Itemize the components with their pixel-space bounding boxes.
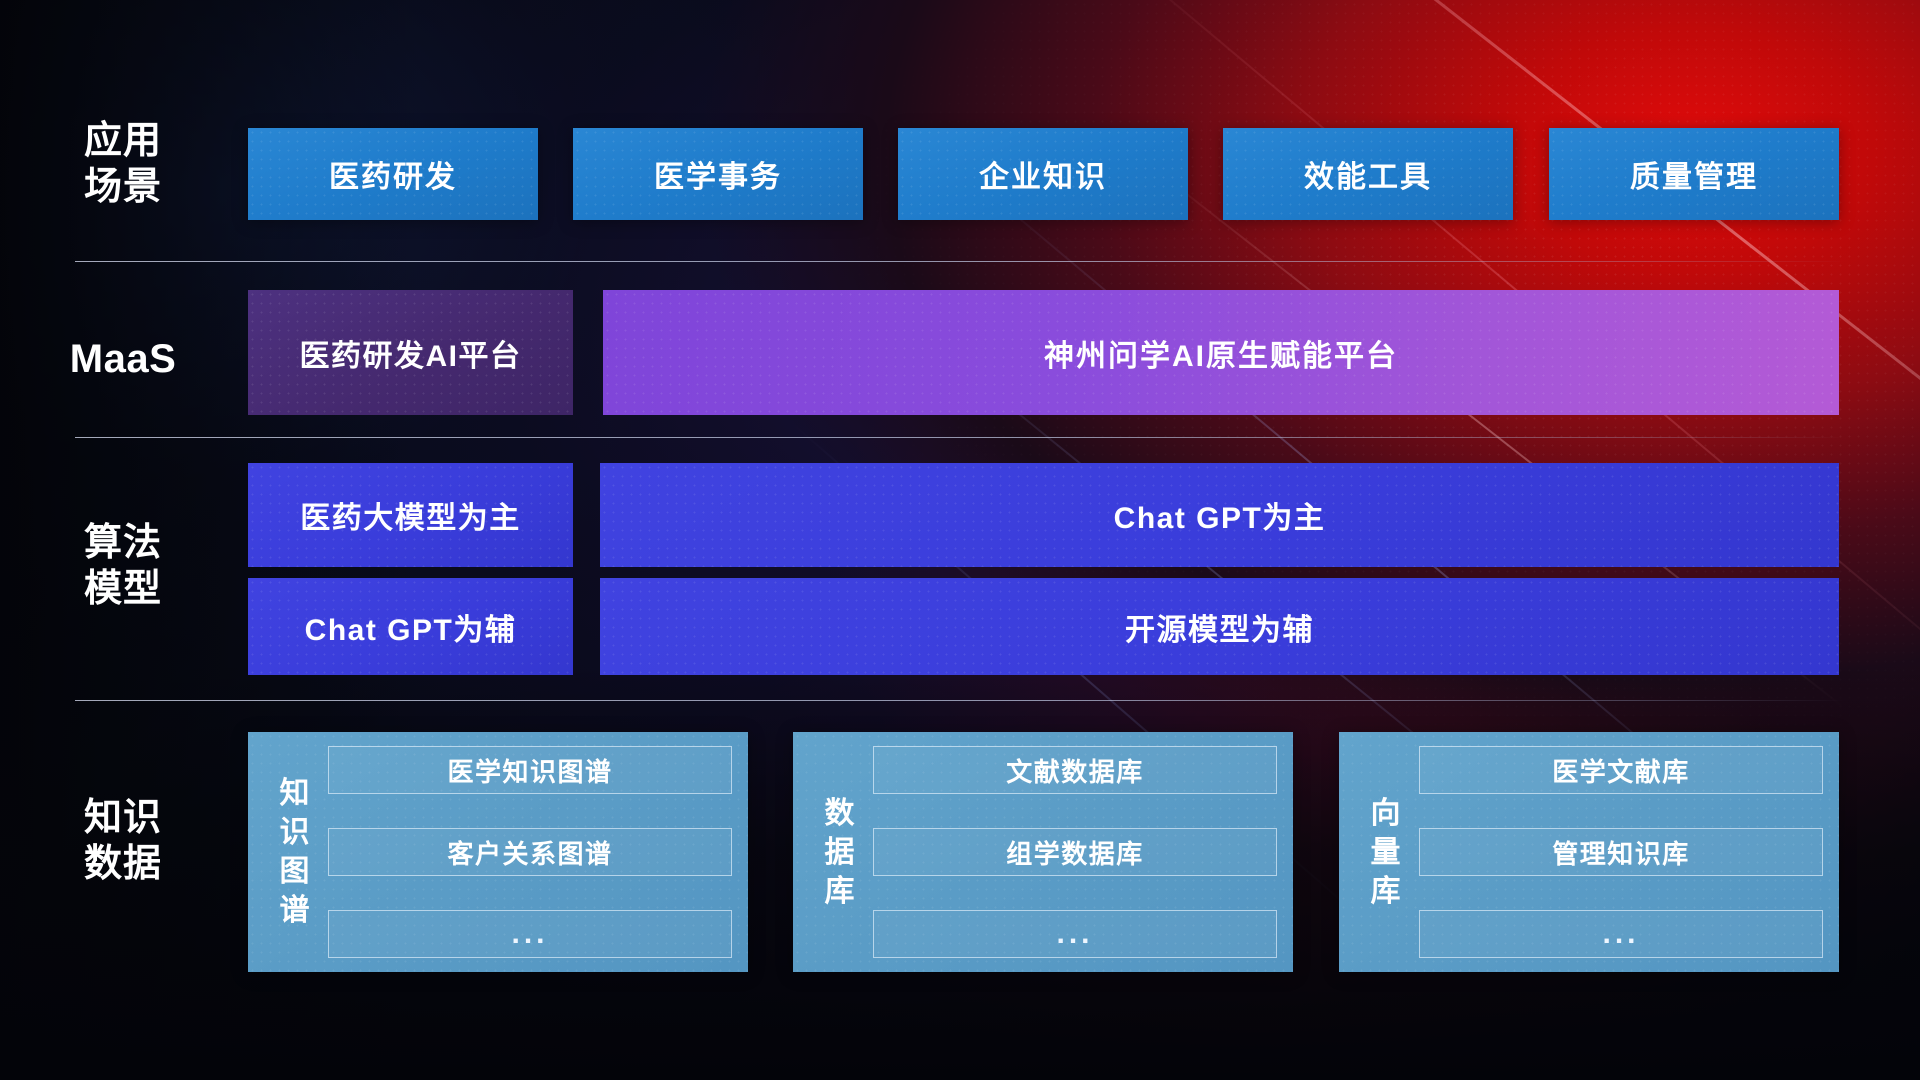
- row-label-line: 应用: [38, 118, 208, 164]
- app-scenario-box-label: 医药研发: [329, 152, 457, 196]
- knowledge-group-vertical-label-text: 向量库: [1371, 794, 1402, 911]
- knowledge-group-item-label: 管理知识库: [1552, 834, 1690, 871]
- knowledge-group-vertical-label-text: 知识图谱: [280, 774, 311, 930]
- knowledge-group-item-label: 医学文献库: [1552, 752, 1690, 789]
- knowledge-group-item-label: 组学数据库: [1006, 834, 1144, 871]
- knowledge-group-item[interactable]: 文献数据库: [873, 746, 1277, 794]
- row-divider-3: [75, 700, 1845, 701]
- knowledge-group-item-list: 医学文献库 管理知识库 ...: [1419, 746, 1823, 958]
- app-scenario-box-2[interactable]: 医学事务: [573, 128, 863, 220]
- knowledge-group-item-label: ...: [511, 917, 548, 951]
- knowledge-group-item-more[interactable]: ...: [873, 910, 1277, 958]
- algo-row2-right-box[interactable]: 开源模型为辅: [600, 578, 1839, 675]
- algo-box-label: Chat GPT为主: [1114, 493, 1326, 537]
- knowledge-group-database[interactable]: 数据库 文献数据库 组学数据库 ...: [793, 732, 1293, 972]
- knowledge-group-item-more[interactable]: ...: [1419, 910, 1823, 958]
- row-label-knowledge-data: 知识 数据: [38, 795, 208, 888]
- row-label-line: 算法: [38, 520, 208, 566]
- algo-row1-left-box[interactable]: 医药大模型为主: [248, 463, 573, 567]
- knowledge-group-item[interactable]: 客户关系图谱: [328, 828, 732, 876]
- row-label-line: MaaS: [38, 335, 208, 384]
- knowledge-group-vector-store[interactable]: 向量库 医学文献库 管理知识库 ...: [1339, 732, 1839, 972]
- app-scenario-box-3[interactable]: 企业知识: [898, 128, 1188, 220]
- row-label-line: 场景: [38, 164, 208, 210]
- knowledge-group-vertical-label: 向量库: [1353, 746, 1419, 958]
- knowledge-group-item[interactable]: 管理知识库: [1419, 828, 1823, 876]
- maas-platform-bar[interactable]: 神州问学AI原生赋能平台: [603, 290, 1839, 415]
- knowledge-group-item-list: 文献数据库 组学数据库 ...: [873, 746, 1277, 958]
- knowledge-group-item[interactable]: 组学数据库: [873, 828, 1277, 876]
- row-label-maas: MaaS: [38, 335, 208, 384]
- knowledge-group-item[interactable]: 医学文献库: [1419, 746, 1823, 794]
- knowledge-group-knowledge-graph[interactable]: 知识图谱 医学知识图谱 客户关系图谱 ...: [248, 732, 748, 972]
- knowledge-group-vertical-label: 数据库: [807, 746, 873, 958]
- maas-left-box-label: 医药研发AI平台: [300, 331, 522, 375]
- knowledge-group-item-label: ...: [1602, 917, 1639, 951]
- algo-row1-right-box[interactable]: Chat GPT为主: [600, 463, 1839, 567]
- maas-left-box[interactable]: 医药研发AI平台: [248, 290, 573, 415]
- maas-platform-bar-label: 神州问学AI原生赋能平台: [1044, 331, 1398, 375]
- row-divider-1: [75, 261, 1845, 262]
- knowledge-group-vertical-label-text: 数据库: [825, 794, 856, 911]
- knowledge-group-vertical-label: 知识图谱: [262, 746, 328, 958]
- row-label-algorithm-model: 算法 模型: [38, 520, 208, 613]
- row-label-line: 知识: [38, 795, 208, 841]
- app-scenario-box-5[interactable]: 质量管理: [1549, 128, 1839, 220]
- app-scenario-box-label: 质量管理: [1630, 152, 1758, 196]
- row-label-line: 数据: [38, 841, 208, 887]
- algo-box-label: Chat GPT为辅: [305, 605, 517, 649]
- knowledge-group-item-label: 医学知识图谱: [447, 752, 612, 789]
- app-scenario-box-4[interactable]: 效能工具: [1223, 128, 1513, 220]
- algo-box-label: 开源模型为辅: [1125, 605, 1314, 649]
- knowledge-group-item[interactable]: 医学知识图谱: [328, 746, 732, 794]
- algo-box-label: 医药大模型为主: [300, 493, 521, 537]
- app-scenario-box-label: 医学事务: [654, 152, 782, 196]
- row-label-application-scenario: 应用 场景: [38, 118, 208, 211]
- knowledge-group-item-more[interactable]: ...: [328, 910, 732, 958]
- knowledge-group-item-label: 文献数据库: [1006, 752, 1144, 789]
- knowledge-group-item-list: 医学知识图谱 客户关系图谱 ...: [328, 746, 732, 958]
- app-scenario-box-1[interactable]: 医药研发: [248, 128, 538, 220]
- row-label-line: 模型: [38, 566, 208, 612]
- knowledge-group-item-label: ...: [1056, 917, 1093, 951]
- diagram-stage: 应用 场景 医药研发 医学事务 企业知识 效能工具 质量管理 MaaS 医药研发…: [0, 0, 1920, 1080]
- app-scenario-box-label: 效能工具: [1304, 152, 1432, 196]
- algo-row2-left-box[interactable]: Chat GPT为辅: [248, 578, 573, 675]
- row-divider-2: [75, 437, 1845, 438]
- knowledge-group-item-label: 客户关系图谱: [447, 834, 612, 871]
- app-scenario-box-label: 企业知识: [979, 152, 1107, 196]
